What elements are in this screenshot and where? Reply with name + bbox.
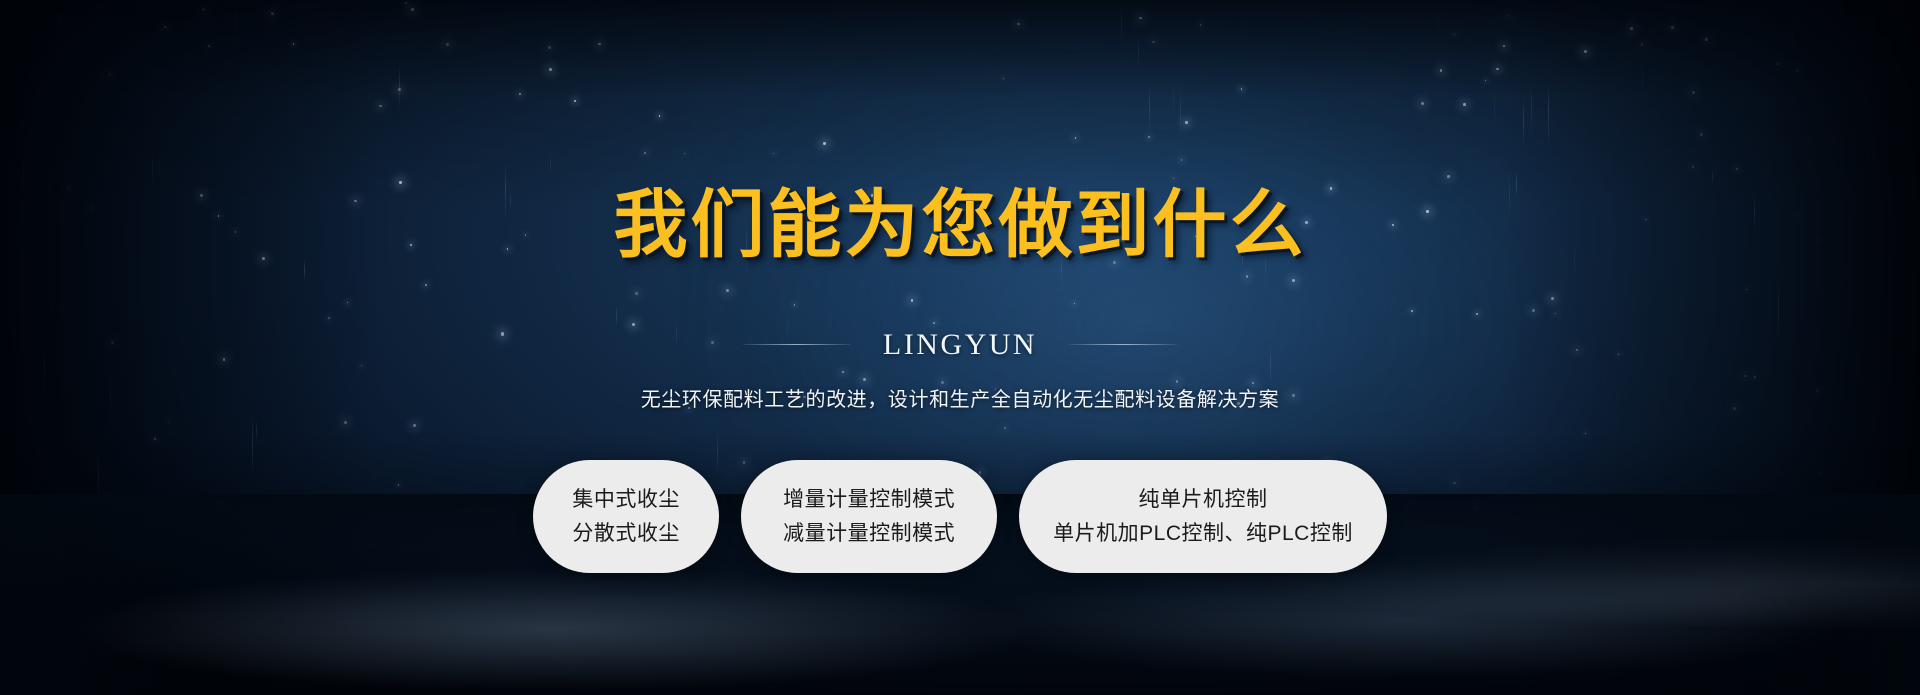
- subtitle: 无尘环保配料工艺的改进，设计和生产全自动化无尘配料设备解决方案: [641, 383, 1280, 412]
- pill-line: 单片机加PLC控制、纯PLC控制: [1053, 523, 1353, 544]
- divider-line-left: [743, 344, 851, 345]
- feature-pill-group: 集中式收尘 分散式收尘 增量计量控制模式 减量计量控制模式 纯单片机控制 单片机…: [533, 460, 1387, 573]
- pill-line: 分散式收尘: [572, 523, 680, 544]
- feature-pill-control-system[interactable]: 纯单片机控制 单片机加PLC控制、纯PLC控制: [1019, 460, 1387, 573]
- pill-line: 增量计量控制模式: [783, 489, 955, 510]
- feature-pill-metering-mode[interactable]: 增量计量控制模式 减量计量控制模式: [741, 460, 997, 573]
- feature-pill-dust-collection[interactable]: 集中式收尘 分散式收尘: [533, 460, 719, 573]
- brand-row: LINGYUN: [743, 328, 1177, 362]
- pill-line: 纯单片机控制: [1138, 489, 1267, 510]
- divider-line-right: [1069, 344, 1177, 345]
- banner-content: 我们能为您做到什么 LINGYUN 无尘环保配料工艺的改进，设计和生产全自动化无…: [0, 0, 1920, 695]
- pill-line: 集中式收尘: [572, 489, 680, 510]
- pill-line: 减量计量控制模式: [783, 523, 955, 544]
- hero-banner: 我们能为您做到什么 LINGYUN 无尘环保配料工艺的改进，设计和生产全自动化无…: [0, 0, 1920, 695]
- brand-name: LINGYUN: [883, 328, 1037, 362]
- page-title: 我们能为您做到什么: [614, 188, 1307, 262]
